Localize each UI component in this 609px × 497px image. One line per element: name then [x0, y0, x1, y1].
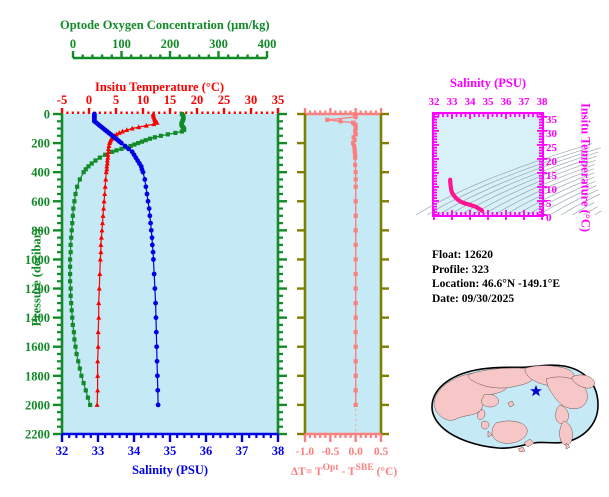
svg-text:0: 0: [44, 108, 50, 122]
svg-text:100: 100: [112, 37, 131, 51]
svg-text:38: 38: [272, 444, 285, 458]
svg-text:25: 25: [218, 93, 231, 107]
svg-text:35: 35: [164, 444, 177, 458]
svg-text:0: 0: [546, 212, 552, 224]
svg-text:400: 400: [31, 166, 50, 180]
salinity-axis: 32333435363738: [62, 432, 284, 466]
meta-profile-row: Profile: 323: [432, 263, 608, 278]
svg-text:200: 200: [161, 37, 180, 51]
meta-location-label: Location:: [432, 278, 479, 290]
svg-text:400: 400: [258, 37, 277, 51]
svg-text:-1.0: -1.0: [296, 446, 314, 458]
svg-text:-0.5: -0.5: [321, 446, 339, 458]
pressure-axis-title: Pressure (decibar): [30, 213, 45, 343]
delta-t-axis-title: ΔT= TOpt - TSBE (°C): [288, 462, 400, 478]
svg-text:37: 37: [236, 444, 249, 458]
delta-t-bottom-axis: -1.0-0.50.00.5: [305, 432, 385, 464]
meta-location-row: Location: 46.6°N -149.1°E: [432, 277, 608, 292]
svg-text:32: 32: [56, 444, 69, 458]
delta-t-title-text: ΔT= TOpt - TSBE (°C): [291, 466, 397, 478]
oxygen-axis: 0100200300400: [62, 36, 282, 64]
delta-t-plot-svg: [305, 114, 381, 434]
meta-location-value: 46.6°N -149.1°E: [482, 278, 560, 290]
ts-temperature-title: Insitu Temperature (°C): [578, 103, 593, 233]
svg-text:15: 15: [164, 93, 177, 107]
ts-axis-ticks: [428, 108, 552, 228]
svg-text:37: 37: [519, 96, 531, 108]
svg-text:600: 600: [31, 195, 50, 209]
svg-text:35: 35: [483, 96, 495, 108]
svg-text:1800: 1800: [25, 369, 50, 383]
delta-t-top-axis: [305, 108, 383, 118]
svg-text:33: 33: [92, 444, 105, 458]
svg-text:0.5: 0.5: [374, 446, 389, 458]
svg-text:25: 25: [546, 142, 558, 154]
svg-text:32: 32: [429, 96, 441, 108]
svg-text:300: 300: [209, 37, 228, 51]
svg-text:34: 34: [128, 444, 141, 458]
meta-date-row: Date: 09/30/2025: [432, 292, 608, 307]
svg-text:10: 10: [137, 93, 150, 107]
svg-text:36: 36: [501, 96, 513, 108]
svg-text:15: 15: [546, 170, 558, 182]
svg-text:30: 30: [245, 93, 258, 107]
world-map: [424, 355, 604, 465]
delta-t-left-spine: [297, 110, 311, 440]
svg-text:38: 38: [537, 96, 549, 108]
svg-text:0: 0: [70, 37, 76, 51]
ts-salinity-title: Salinity (PSU): [432, 76, 544, 91]
svg-text:20: 20: [191, 93, 204, 107]
oxygen-axis-title: Optode Oxygen Concentration (μm/kg): [60, 18, 270, 33]
svg-text:5: 5: [113, 93, 119, 107]
svg-text:200: 200: [31, 137, 50, 151]
meta-float-value: 12620: [464, 249, 493, 261]
svg-text:2000: 2000: [25, 398, 50, 412]
svg-text:36: 36: [200, 444, 213, 458]
metadata-block: Float: 12620 Profile: 323 Location: 46.6…: [432, 248, 608, 306]
salinity-axis-title: Salinity (PSU): [62, 463, 278, 478]
svg-text:35: 35: [272, 93, 285, 107]
meta-profile-value: 323: [472, 264, 489, 276]
svg-text:-5: -5: [57, 93, 67, 107]
ts-temperature-ticklabels: 05101520253035: [546, 110, 572, 222]
meta-float-label: Float:: [432, 249, 461, 261]
svg-text:0.0: 0.0: [348, 446, 363, 458]
svg-text:10: 10: [546, 184, 558, 196]
svg-text:0: 0: [86, 93, 92, 107]
svg-text:2200: 2200: [25, 428, 50, 442]
svg-text:30: 30: [546, 128, 558, 140]
svg-text:33: 33: [447, 96, 459, 108]
svg-text:20: 20: [546, 156, 558, 168]
svg-text:34: 34: [465, 96, 477, 108]
profile-right-spine: [274, 108, 290, 442]
meta-profile-label: Profile:: [432, 264, 469, 276]
profile-plot-svg: [62, 114, 278, 434]
meta-date-label: Date:: [432, 293, 459, 305]
delta-t-right-spine: [375, 110, 389, 440]
svg-text:35: 35: [546, 114, 558, 126]
svg-text:5: 5: [546, 198, 552, 210]
meta-float-row: Float: 12620: [432, 248, 608, 263]
meta-date-value: 09/30/2025: [462, 293, 514, 305]
